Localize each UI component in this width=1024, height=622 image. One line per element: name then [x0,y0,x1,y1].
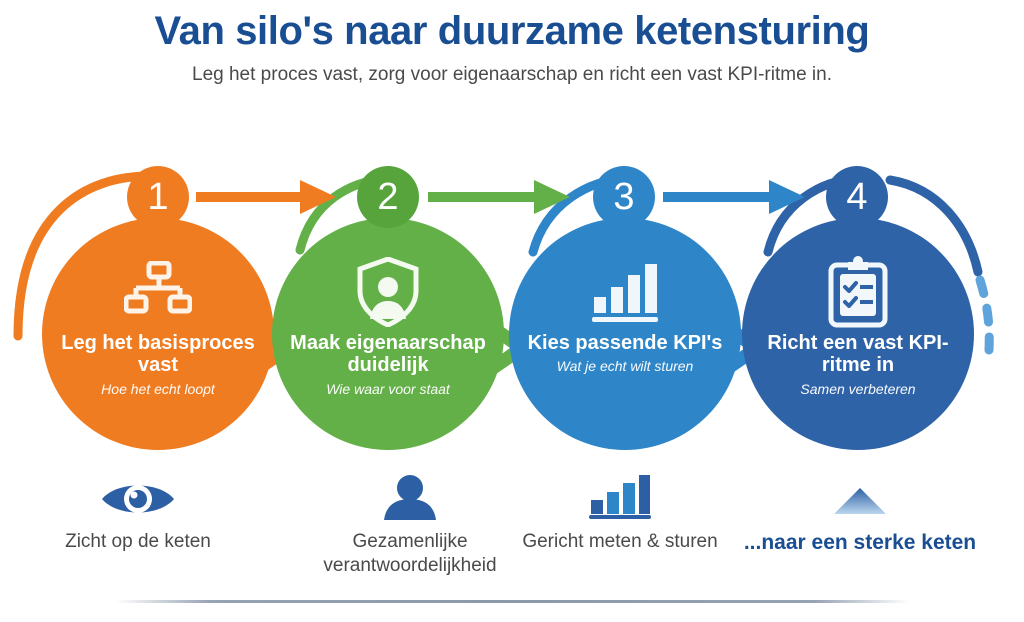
org-chart-icon [124,256,192,328]
outcome-item-1: Zicht op de keten [18,474,258,554]
outcome-item-3: Gericht meten & sturen [500,474,740,554]
arrow-step2-to-step3 [428,180,570,214]
infographic-canvas: Van silo's naar duurzame ketensturing Le… [0,0,1024,622]
outcome-item-2: Gezamenlijke verantwoordelijkheid [290,474,530,578]
outcome-label-4: ...naar een sterke keten [740,530,980,556]
step-subtitle-4: Samen verbeteren [758,381,958,397]
eye-icon [18,474,258,520]
outcome-label-3: Gericht meten & sturen [500,530,740,554]
arc-dashed-blue [980,280,989,350]
step-card-3[interactable]: Kies passende KPI's Wat je echt wilt stu… [509,218,741,450]
clipboard-checklist-icon [827,256,889,328]
bar-chart-icon [590,256,660,328]
bar-chart-icon [500,474,740,520]
person-icon [290,474,530,520]
shield-person-icon [356,256,420,328]
page-title: Van silo's naar duurzame ketensturing [0,10,1024,53]
outcome-label-2: Gezamenlijke verantwoordelijkheid [290,530,530,578]
step-subtitle-3: Wat je echt wilt sturen [525,358,725,374]
step-title-2: Maak eigenaarschap duidelijk [288,332,488,377]
step-badge-1[interactable]: 1 [127,166,189,228]
header: Van silo's naar duurzame ketensturing Le… [0,10,1024,87]
arrow-step1-to-step2 [196,180,336,214]
step-subtitle-2: Wie waar voor staat [288,381,488,397]
step-badge-2[interactable]: 2 [357,166,419,228]
step-badge-4[interactable]: 4 [826,166,888,228]
arrow-step3-to-step4 [663,180,805,214]
step-card-4[interactable]: Richt een vast KPI-ritme in Samen verbet… [742,218,974,450]
up-arrow-icon [740,474,980,520]
page-subtitle: Leg het proces vast, zorg voor eigenaars… [0,64,1024,87]
bottom-divider [115,600,910,603]
outcome-item-4: ...naar een sterke keten [740,474,980,556]
step-title-1: Leg het basisproces vast [58,332,258,377]
step-subtitle-1: Hoe het echt loopt [58,381,258,397]
step-card-1[interactable]: Leg het basisproces vast Hoe het echt lo… [42,218,274,450]
step-title-3: Kies passende KPI's [525,332,725,354]
step-card-2[interactable]: Maak eigenaarschap duidelijk Wie waar vo… [272,218,504,450]
step-badge-3[interactable]: 3 [593,166,655,228]
step-title-4: Richt een vast KPI-ritme in [758,332,958,377]
outcome-label-1: Zicht op de keten [18,530,258,554]
